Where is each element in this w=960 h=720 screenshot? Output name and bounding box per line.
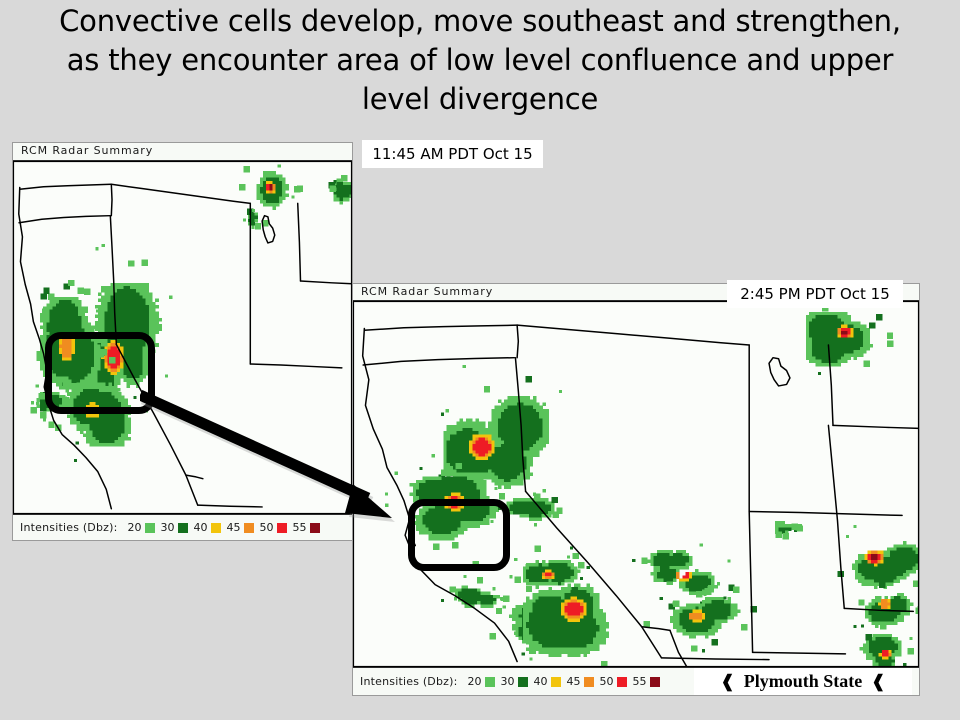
legend-entry-45: 45 [567, 675, 594, 688]
legend-value-50: 50 [260, 521, 274, 534]
legend-swatch-20 [145, 523, 155, 533]
timestamp-panel-1: 11:45 AM PDT Oct 15 [362, 140, 543, 168]
legend-swatch-40 [551, 677, 561, 687]
page-title: Convective cells develop, move southeast… [0, 2, 960, 119]
legend-swatch-40 [211, 523, 221, 533]
legend-swatch-45 [244, 523, 254, 533]
legend-label-2: Intensities (Dbz): [360, 675, 458, 688]
brand-name: Plymouth State [744, 671, 863, 692]
legend-swatches-1: 203040455055 [122, 521, 320, 534]
brand-mark-left-icon: ❰ [721, 672, 735, 692]
callout-box-source-cells [45, 332, 155, 414]
legend-entry-30: 30 [161, 521, 188, 534]
legend-entry-55: 55 [293, 521, 320, 534]
timestamp-panel-2: 2:45 PM PDT Oct 15 [727, 280, 903, 308]
legend-entry-55: 55 [633, 675, 660, 688]
legend-entry-20: 20 [128, 521, 155, 534]
legend-value-55: 55 [633, 675, 647, 688]
panel-2-map [353, 301, 919, 667]
legend-entry-50: 50 [260, 521, 287, 534]
legend-swatch-55 [650, 677, 660, 687]
legend-value-30: 30 [161, 521, 175, 534]
legend-entry-30: 30 [501, 675, 528, 688]
legend-entry-40: 40 [534, 675, 561, 688]
legend-entry-45: 45 [227, 521, 254, 534]
legend-swatch-50 [617, 677, 627, 687]
callout-box-target-cells [408, 499, 510, 571]
legend-value-30: 30 [501, 675, 515, 688]
legend-value-45: 45 [567, 675, 581, 688]
panel-1-legend: Intensities (Dbz): 203040455055 [13, 514, 352, 540]
legend-value-20: 20 [468, 675, 482, 688]
title-line-2: as they encounter area of low level conf… [0, 41, 960, 80]
radar-panel-245pm: RCM Radar Summary Intensities (Dbz): 203… [352, 283, 920, 696]
legend-value-55: 55 [293, 521, 307, 534]
brand-mark-right-icon: ❰ [871, 672, 885, 692]
legend-label-1: Intensities (Dbz): [20, 521, 118, 534]
legend-value-20: 20 [128, 521, 142, 534]
title-line-1: Convective cells develop, move southeast… [0, 2, 960, 41]
title-line-3: level divergence [0, 80, 960, 119]
legend-value-50: 50 [600, 675, 614, 688]
legend-value-45: 45 [227, 521, 241, 534]
radar-map-graphic-2 [353, 301, 919, 667]
legend-swatch-55 [310, 523, 320, 533]
panel-1-header-label: RCM Radar Summary [21, 144, 153, 157]
legend-value-40: 40 [534, 675, 548, 688]
plymouth-state-branding: ❰ Plymouth State ❰ [694, 668, 912, 695]
legend-swatch-45 [584, 677, 594, 687]
legend-swatch-20 [485, 677, 495, 687]
legend-swatch-50 [277, 523, 287, 533]
legend-swatches-2: 203040455055 [462, 675, 660, 688]
legend-swatch-30 [518, 677, 528, 687]
panel-1-header: RCM Radar Summary [13, 143, 352, 161]
legend-entry-40: 40 [194, 521, 221, 534]
legend-entry-50: 50 [600, 675, 627, 688]
legend-entry-20: 20 [468, 675, 495, 688]
panel-2-header-label: RCM Radar Summary [361, 285, 493, 298]
legend-value-40: 40 [194, 521, 208, 534]
legend-swatch-30 [178, 523, 188, 533]
